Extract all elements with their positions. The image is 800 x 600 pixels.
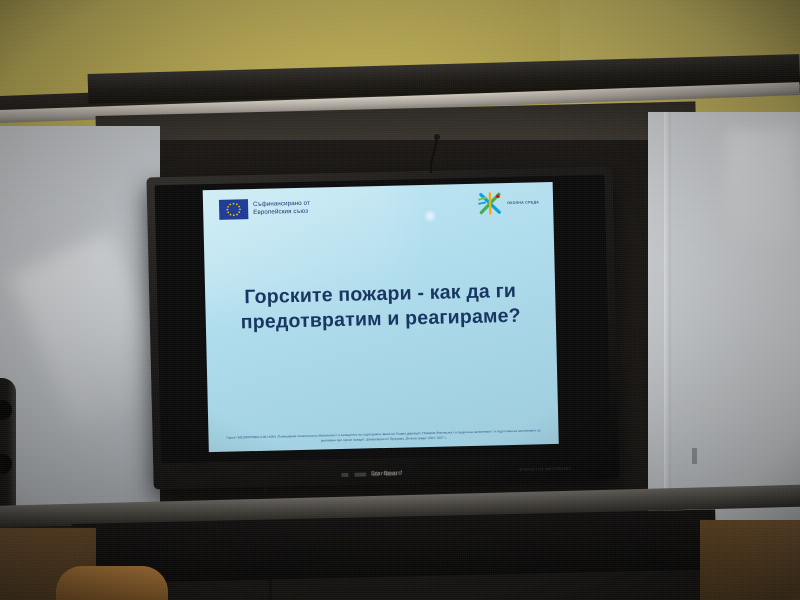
environment-x-logo-icon	[477, 191, 505, 216]
control-button-menu[interactable]	[354, 472, 366, 476]
cabinet-panel-right	[648, 112, 800, 528]
room-photo-scene: Съфинансирано от Европейския съюз ОКОЛНА…	[0, 0, 800, 600]
presentation-slide[interactable]: Съфинансирано от Европейския съюз ОКОЛНА…	[203, 182, 559, 452]
cabinet-right-seam	[664, 112, 671, 528]
programme-logo: ОКОЛНА СРЕДА	[477, 190, 540, 215]
eu-flag-icon	[219, 199, 248, 220]
wood-trim-right	[700, 520, 800, 600]
eu-stars-svg	[219, 199, 248, 220]
eu-funding-emblem: Съфинансирано от Европейския съюз	[219, 198, 310, 220]
starboard-interactive-display[interactable]: Съфинансирано от Европейския съюз ОКОЛНА…	[146, 167, 619, 490]
eu-funding-label: Съфинансирано от Европейския съюз	[253, 200, 310, 217]
slide-title: Горските пожари - как да ги предотвратим…	[205, 278, 556, 335]
lamp-reflection-hotspot	[422, 208, 438, 224]
control-button-power[interactable]	[341, 473, 348, 477]
slide-footer-disclaimer: Проект BG16FFPR002-4.001-0003 „Повишаван…	[220, 428, 546, 445]
cabinet-panel-left	[0, 126, 160, 526]
display-brand-label: StarBoard	[371, 471, 403, 478]
programme-logo-label: ОКОЛНА СРЕДА	[507, 200, 539, 205]
cabinet-right-highlight	[727, 129, 797, 249]
chair-backrest	[56, 566, 168, 600]
cabinet-latch[interactable]	[692, 448, 697, 464]
footer-line-3: 2027 г.	[437, 435, 447, 439]
